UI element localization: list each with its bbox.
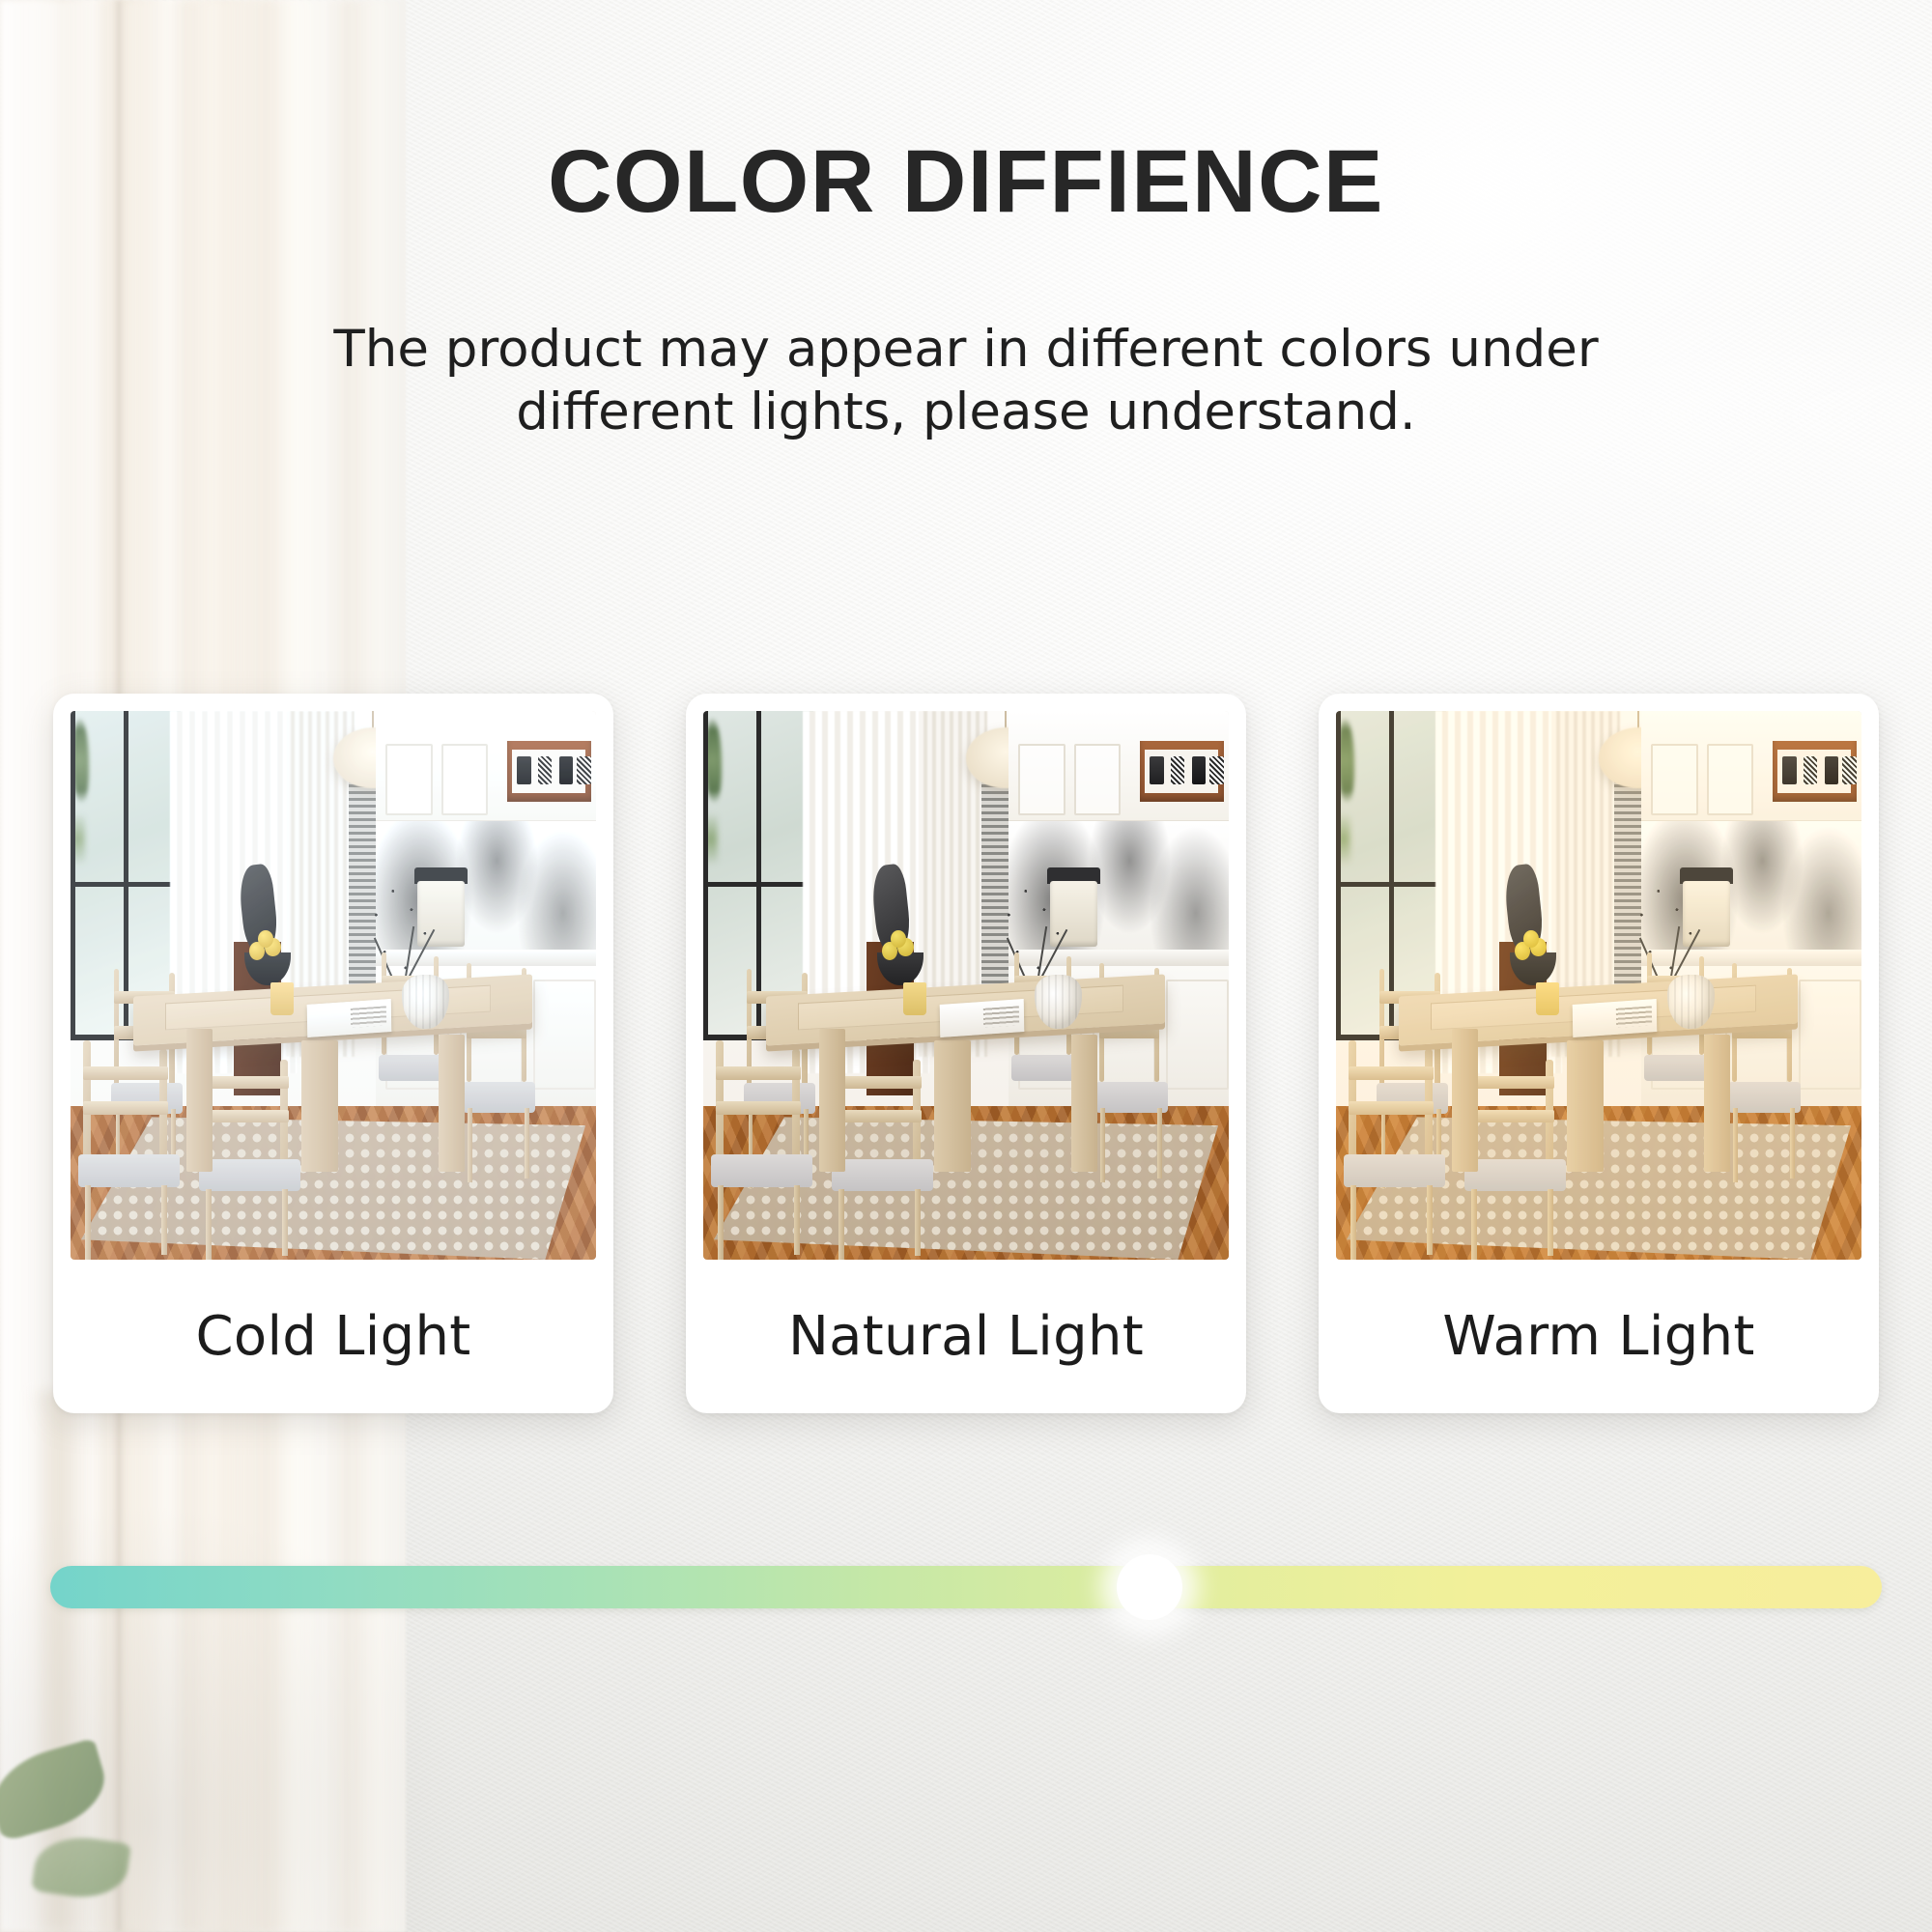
dining-room-scene — [703, 711, 1229, 1260]
color-card-natural-light[interactable]: Natural Light — [686, 694, 1246, 1413]
product-image-warm-light[interactable] — [1336, 711, 1861, 1260]
dining-room-scene — [71, 711, 596, 1260]
subtitle-line-1: The product may appear in different colo… — [333, 320, 1598, 379]
color-temperature-slider[interactable] — [50, 1550, 1882, 1624]
page-subtitle: The product may appear in different colo… — [270, 319, 1662, 443]
page-title: COLOR DIFFIENCE — [0, 131, 1932, 233]
subtitle-line-2: different lights, please understand. — [270, 382, 1662, 444]
card-label-natural-light: Natural Light — [703, 1260, 1229, 1413]
slider-knob[interactable] — [1117, 1554, 1182, 1620]
card-label-cold-light: Cold Light — [71, 1260, 596, 1413]
dining-room-scene — [1336, 711, 1861, 1260]
product-image-cold-light[interactable] — [71, 711, 596, 1260]
slider-track[interactable] — [50, 1566, 1882, 1608]
card-label-warm-light: Warm Light — [1336, 1260, 1861, 1413]
color-comparison-cards: Cold Light — [53, 694, 1879, 1413]
color-card-cold-light[interactable]: Cold Light — [53, 694, 613, 1413]
product-image-natural-light[interactable] — [703, 711, 1229, 1260]
color-card-warm-light[interactable]: Warm Light — [1319, 694, 1879, 1413]
